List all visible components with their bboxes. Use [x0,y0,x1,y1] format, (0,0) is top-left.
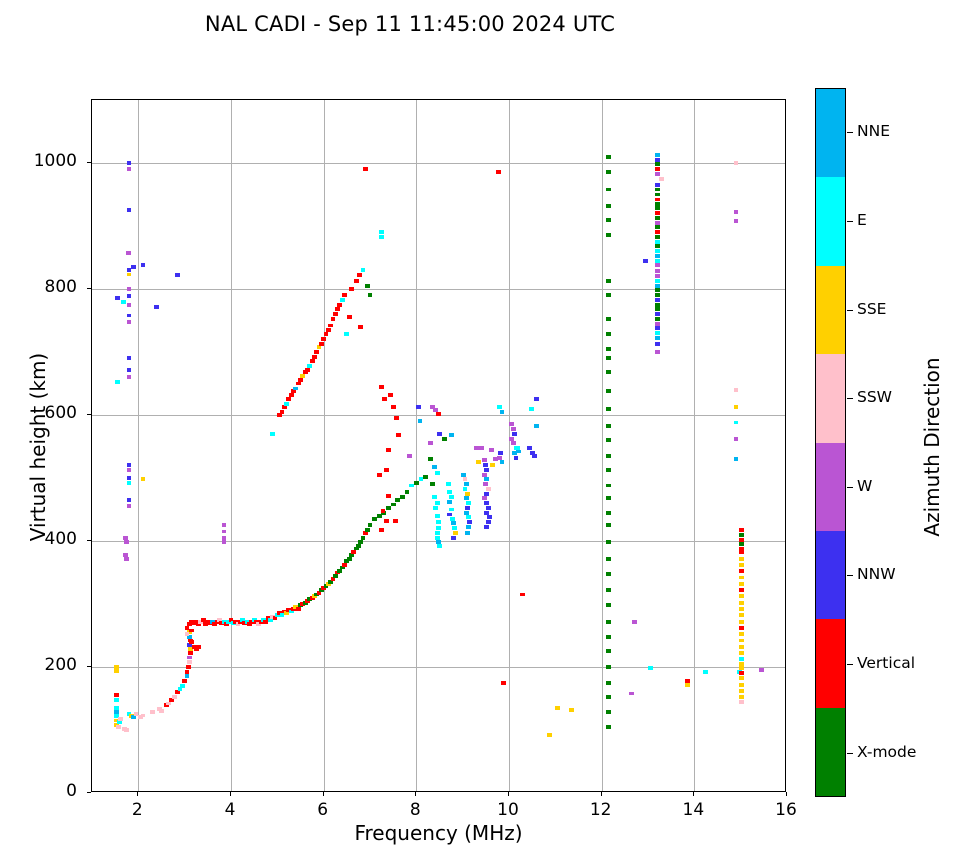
echo-cell [476,460,481,464]
echo-cell [466,501,471,505]
echo-cell [655,198,660,202]
echo-cell [182,679,187,683]
echo-cell [532,454,537,458]
echo-cell [337,303,342,307]
echo-cell [606,710,611,714]
echo-cell [739,700,744,704]
echo-cell [180,684,185,688]
echo-cell [734,437,739,441]
echo-cell [487,515,492,519]
echo-cell [606,317,611,321]
echo-cell [280,410,285,414]
echo-cell [739,601,744,605]
page-title: NAL CADI - Sep 11 11:45:00 2024 UTC [0,12,820,36]
echo-cell [186,665,191,669]
echo-cell [606,170,611,174]
echo-cell [436,412,441,416]
echo-cell [734,388,739,392]
echo-cell [185,670,190,674]
echo-cell [655,326,660,330]
echo-cell [307,364,312,368]
echo-cell [555,706,560,710]
echo-cell [361,268,366,272]
ionogram-figure: NAL CADI - Sep 11 11:45:00 2024 UTC 2468… [0,0,958,857]
echo-cell [324,332,329,336]
echo-cell [310,359,315,363]
echo-cell [127,356,132,360]
echo-cell [496,170,501,174]
colorbar-label-nnw: NNW [857,565,896,583]
echo-cell [127,498,132,502]
x-tick [137,792,138,796]
echo-cell [606,588,611,592]
echo-cell [354,279,359,283]
y-tick-label: 800 [7,277,77,297]
echo-cell [335,307,340,311]
echo-cell [606,293,611,297]
echo-cell [379,528,384,532]
echo-cell [189,629,194,633]
colorbar[interactable] [815,88,846,797]
echo-cell [606,188,611,192]
echo-cell [516,450,521,454]
echo-cell [384,468,389,472]
echo-cell [606,279,611,283]
echo-cell [342,293,347,297]
echo-cell [154,305,159,309]
echo-cell [606,356,611,360]
y-tick [87,666,91,667]
echo-cell [384,519,389,523]
colorbar-tick [847,132,853,133]
echo-cell [435,514,440,518]
y-tick-label: 200 [7,655,77,675]
echo-cell [655,284,660,288]
x-tick-label: 4 [200,800,260,820]
echo-cell [453,531,458,535]
echo-cell [391,503,396,507]
echo-cell [333,312,338,316]
echo-cell [466,525,471,529]
echo-cell [114,706,119,710]
echo-cell [606,204,611,208]
echo-cell [270,432,275,436]
echo-cell [442,437,447,441]
echo-cell [123,536,128,540]
colorbar-label-ssw: SSW [857,388,892,406]
echo-cell [655,249,660,253]
echo-cell [321,337,326,341]
echo-cell [435,501,440,505]
echo-cell [482,473,487,477]
echo-cell [465,531,470,535]
echo-cell [407,454,412,458]
echo-cell [363,531,368,535]
colorbar-label-vertical: Vertical [857,654,915,672]
echo-cell [187,656,192,660]
echo-cell [286,397,291,401]
echo-cell [739,594,744,598]
echo-cell [185,626,190,630]
echo-cell [344,332,349,336]
echo-cell [451,536,456,540]
colorbar-tick [847,753,853,754]
echo-cell [484,525,489,529]
echo-cell [512,432,517,436]
echo-cell [172,695,177,699]
echo-cell [739,645,744,649]
echo-cell [141,263,146,267]
colorbar-tick [847,310,853,311]
x-tick [230,792,231,796]
echo-cell [449,495,454,499]
x-tick [786,792,787,796]
echo-cell [490,463,495,467]
echo-cell [739,662,744,666]
echo-cell [447,513,452,517]
echo-cell [414,481,419,485]
echo-cell [629,692,634,696]
colorbar-tick [847,398,853,399]
echo-cell [527,446,532,450]
plot-area[interactable] [91,99,786,792]
y-tick [87,162,91,163]
echo-cell [127,368,132,372]
echo-cell [222,536,227,540]
echo-cell [648,666,653,670]
echo-cell [127,287,132,291]
echo-cell [349,287,354,291]
echo-cell [114,665,119,669]
x-tick-label: 14 [663,800,723,820]
echo-cell [479,446,484,450]
echo-cell [116,725,121,729]
echo-cell [606,389,611,393]
echo-cell [433,506,438,510]
echo-cell [655,235,660,239]
colorbar-tick [847,664,853,665]
echo-cell [418,419,423,423]
echo-cell [606,635,611,639]
echo-cell [606,233,611,237]
echo-cell [734,457,739,461]
echo-cell [606,332,611,336]
echo-cell [386,506,391,510]
echo-cell [606,454,611,458]
x-tick-label: 10 [478,800,538,820]
echo-cell [188,651,193,655]
echo-cell [466,515,471,519]
y-tick [87,540,91,541]
echo-cell [386,494,391,498]
echo-cell [127,463,132,467]
echo-cell [547,733,552,737]
echo-cell [430,482,435,486]
echo-cell [509,437,514,441]
echo-cell [606,649,611,653]
echo-cell [655,298,660,302]
echo-cell [606,511,611,515]
echo-cell [464,482,469,486]
echo-cell [739,542,744,546]
colorbar-tick [847,487,853,488]
echo-cell [447,500,452,504]
echo-cell [351,550,356,554]
x-tick [323,792,324,796]
echo-cell [655,259,660,263]
echo-cell [529,407,534,411]
echo-cell [437,432,442,436]
echo-cell [655,263,660,267]
echo-cell [358,540,363,544]
echo-cell [606,557,611,561]
echo-cell [400,495,405,499]
echo-cell [655,158,660,162]
echo-cell [739,683,744,687]
colorbar-tick [847,575,853,576]
echo-cell [121,300,126,304]
echo-cell [484,511,489,515]
echo-cell [655,193,660,197]
echo-cell [739,695,744,699]
echo-cell [500,460,505,464]
echo-cell [394,416,399,420]
echo-cell [124,540,129,544]
echo-cell [484,477,489,481]
echo-cell [114,669,119,673]
echo-cell [655,225,660,229]
echo-cell [511,427,516,431]
echo-cell [386,448,391,452]
echo-cell [739,557,744,561]
x-tick-label: 16 [756,800,816,820]
echo-cell [632,620,637,624]
echo-cell [739,666,744,670]
echo-cell [739,626,744,630]
echo-cell [358,325,363,329]
echo-cell [734,421,739,425]
echo-cell [655,216,660,220]
echo-cell [655,153,660,157]
echo-cell [222,523,227,527]
echo-cell [606,603,611,607]
colorbar-band [816,177,845,266]
y-tick-label: 0 [7,781,77,801]
echo-cell [449,508,454,512]
colorbar-tick [847,221,853,222]
echo-cell [463,477,468,481]
echo-cell [655,269,660,273]
echo-cell [446,482,451,486]
echo-cell [428,441,433,445]
y-tick-label: 1000 [7,151,77,171]
echo-cell [127,273,132,277]
echo-cell [124,728,129,732]
echo-cell [739,620,744,624]
echo-cell [484,492,489,496]
echo-cell [655,162,660,166]
echo-cell [388,393,393,397]
echo-cell [185,632,190,636]
data-points-layer [92,100,785,791]
echo-cell [655,230,660,234]
echo-cell [606,347,611,351]
echo-cell [379,385,384,389]
echo-cell [365,284,370,288]
echo-cell [606,572,611,576]
echo-cell [465,506,470,510]
echo-cell [127,208,132,212]
echo-cell [347,557,352,561]
echo-cell [222,540,227,544]
echo-cell [467,520,472,524]
echo-cell [340,298,345,302]
echo-cell [498,451,503,455]
echo-cell [497,456,502,460]
echo-cell [356,544,361,548]
echo-cell [127,481,132,485]
echo-cell [655,221,660,225]
echo-cell [391,405,396,409]
echo-cell [117,720,122,724]
echo-cell [377,473,382,477]
echo-cell [655,312,660,316]
echo-cell [337,569,342,573]
echo-cell [655,211,660,215]
echo-cell [381,509,386,513]
echo-cell [482,496,487,500]
echo-cell [326,328,331,332]
echo-cell [606,155,611,159]
echo-cell [428,457,433,461]
echo-cell [501,681,506,685]
echo-cell [127,476,132,480]
colorbar-label-w: W [857,477,872,495]
echo-cell [127,167,132,171]
echo-cell [293,387,298,391]
echo-cell [175,273,180,277]
echo-cell [486,520,491,524]
y-tick [87,792,91,793]
echo-cell [465,492,470,496]
echo-cell [655,188,660,192]
echo-cell [115,380,120,384]
colorbar-band [816,266,845,355]
echo-cell [739,607,744,611]
colorbar-band [816,443,845,532]
echo-cell [131,265,136,269]
echo-cell [159,709,164,713]
echo-cell [127,314,132,318]
echo-cell [124,557,129,561]
echo-cell [739,582,744,586]
echo-cell [435,471,440,475]
echo-cell [606,468,611,472]
colorbar-band [816,354,845,443]
colorbar-label-e: E [857,211,867,229]
echo-cell [342,563,347,567]
echo-cell [452,526,457,530]
echo-cell [127,294,132,298]
echo-cell [606,620,611,624]
colorbar-band [816,531,845,620]
echo-cell [435,531,440,535]
echo-cell [483,463,488,467]
echo-cell [379,235,384,239]
echo-cell [685,683,690,687]
echo-cell [314,350,319,354]
echo-cell [739,689,744,693]
echo-cell [127,161,132,165]
echo-cell [435,536,440,540]
echo-cell [482,458,487,462]
echo-cell [282,405,287,409]
echo-cell [405,490,410,494]
colorbar-label-nne: NNE [857,122,890,140]
echo-cell [312,355,317,359]
echo-cell [739,639,744,643]
colorbar-band [816,89,845,178]
echo-cell [739,676,744,680]
echo-cell [361,536,366,540]
echo-cell [739,569,744,573]
echo-cell [739,576,744,580]
x-tick-label: 8 [385,800,445,820]
echo-cell [296,607,301,611]
echo-cell [655,307,660,311]
echo-cell [606,665,611,669]
colorbar-band [816,619,845,708]
echo-cell [300,374,305,378]
echo-cell [739,528,744,532]
echo-cell [382,397,387,401]
echo-cell [187,660,192,664]
echo-cell [655,350,660,354]
echo-cell [432,495,437,499]
echo-cell [393,519,398,523]
echo-cell [606,438,611,442]
colorbar-label-sse: SSE [857,300,886,318]
echo-cell [511,441,516,445]
echo-cell [432,465,437,469]
echo-cell [655,342,660,346]
echo-cell [606,484,611,488]
echo-cell [509,422,514,426]
echo-cell [606,523,611,527]
echo-cell [222,530,227,534]
echo-cell [298,378,303,382]
echo-cell [368,293,373,297]
echo-cell [734,161,739,165]
echo-cell [127,375,132,379]
echo-cell [461,473,466,477]
echo-cell [368,523,373,527]
echo-cell [114,698,119,702]
echo-cell [655,274,660,278]
echo-cell [185,674,190,678]
echo-cell [127,303,132,307]
echo-cell [734,219,739,223]
echo-cell [739,550,744,554]
echo-cell [436,520,441,524]
echo-cell [606,407,611,411]
echo-cell [450,517,455,521]
echo-cell [739,613,744,617]
echo-cell [141,477,146,481]
echo-cell [739,632,744,636]
echo-cell [489,448,494,452]
echo-cell [437,544,442,548]
